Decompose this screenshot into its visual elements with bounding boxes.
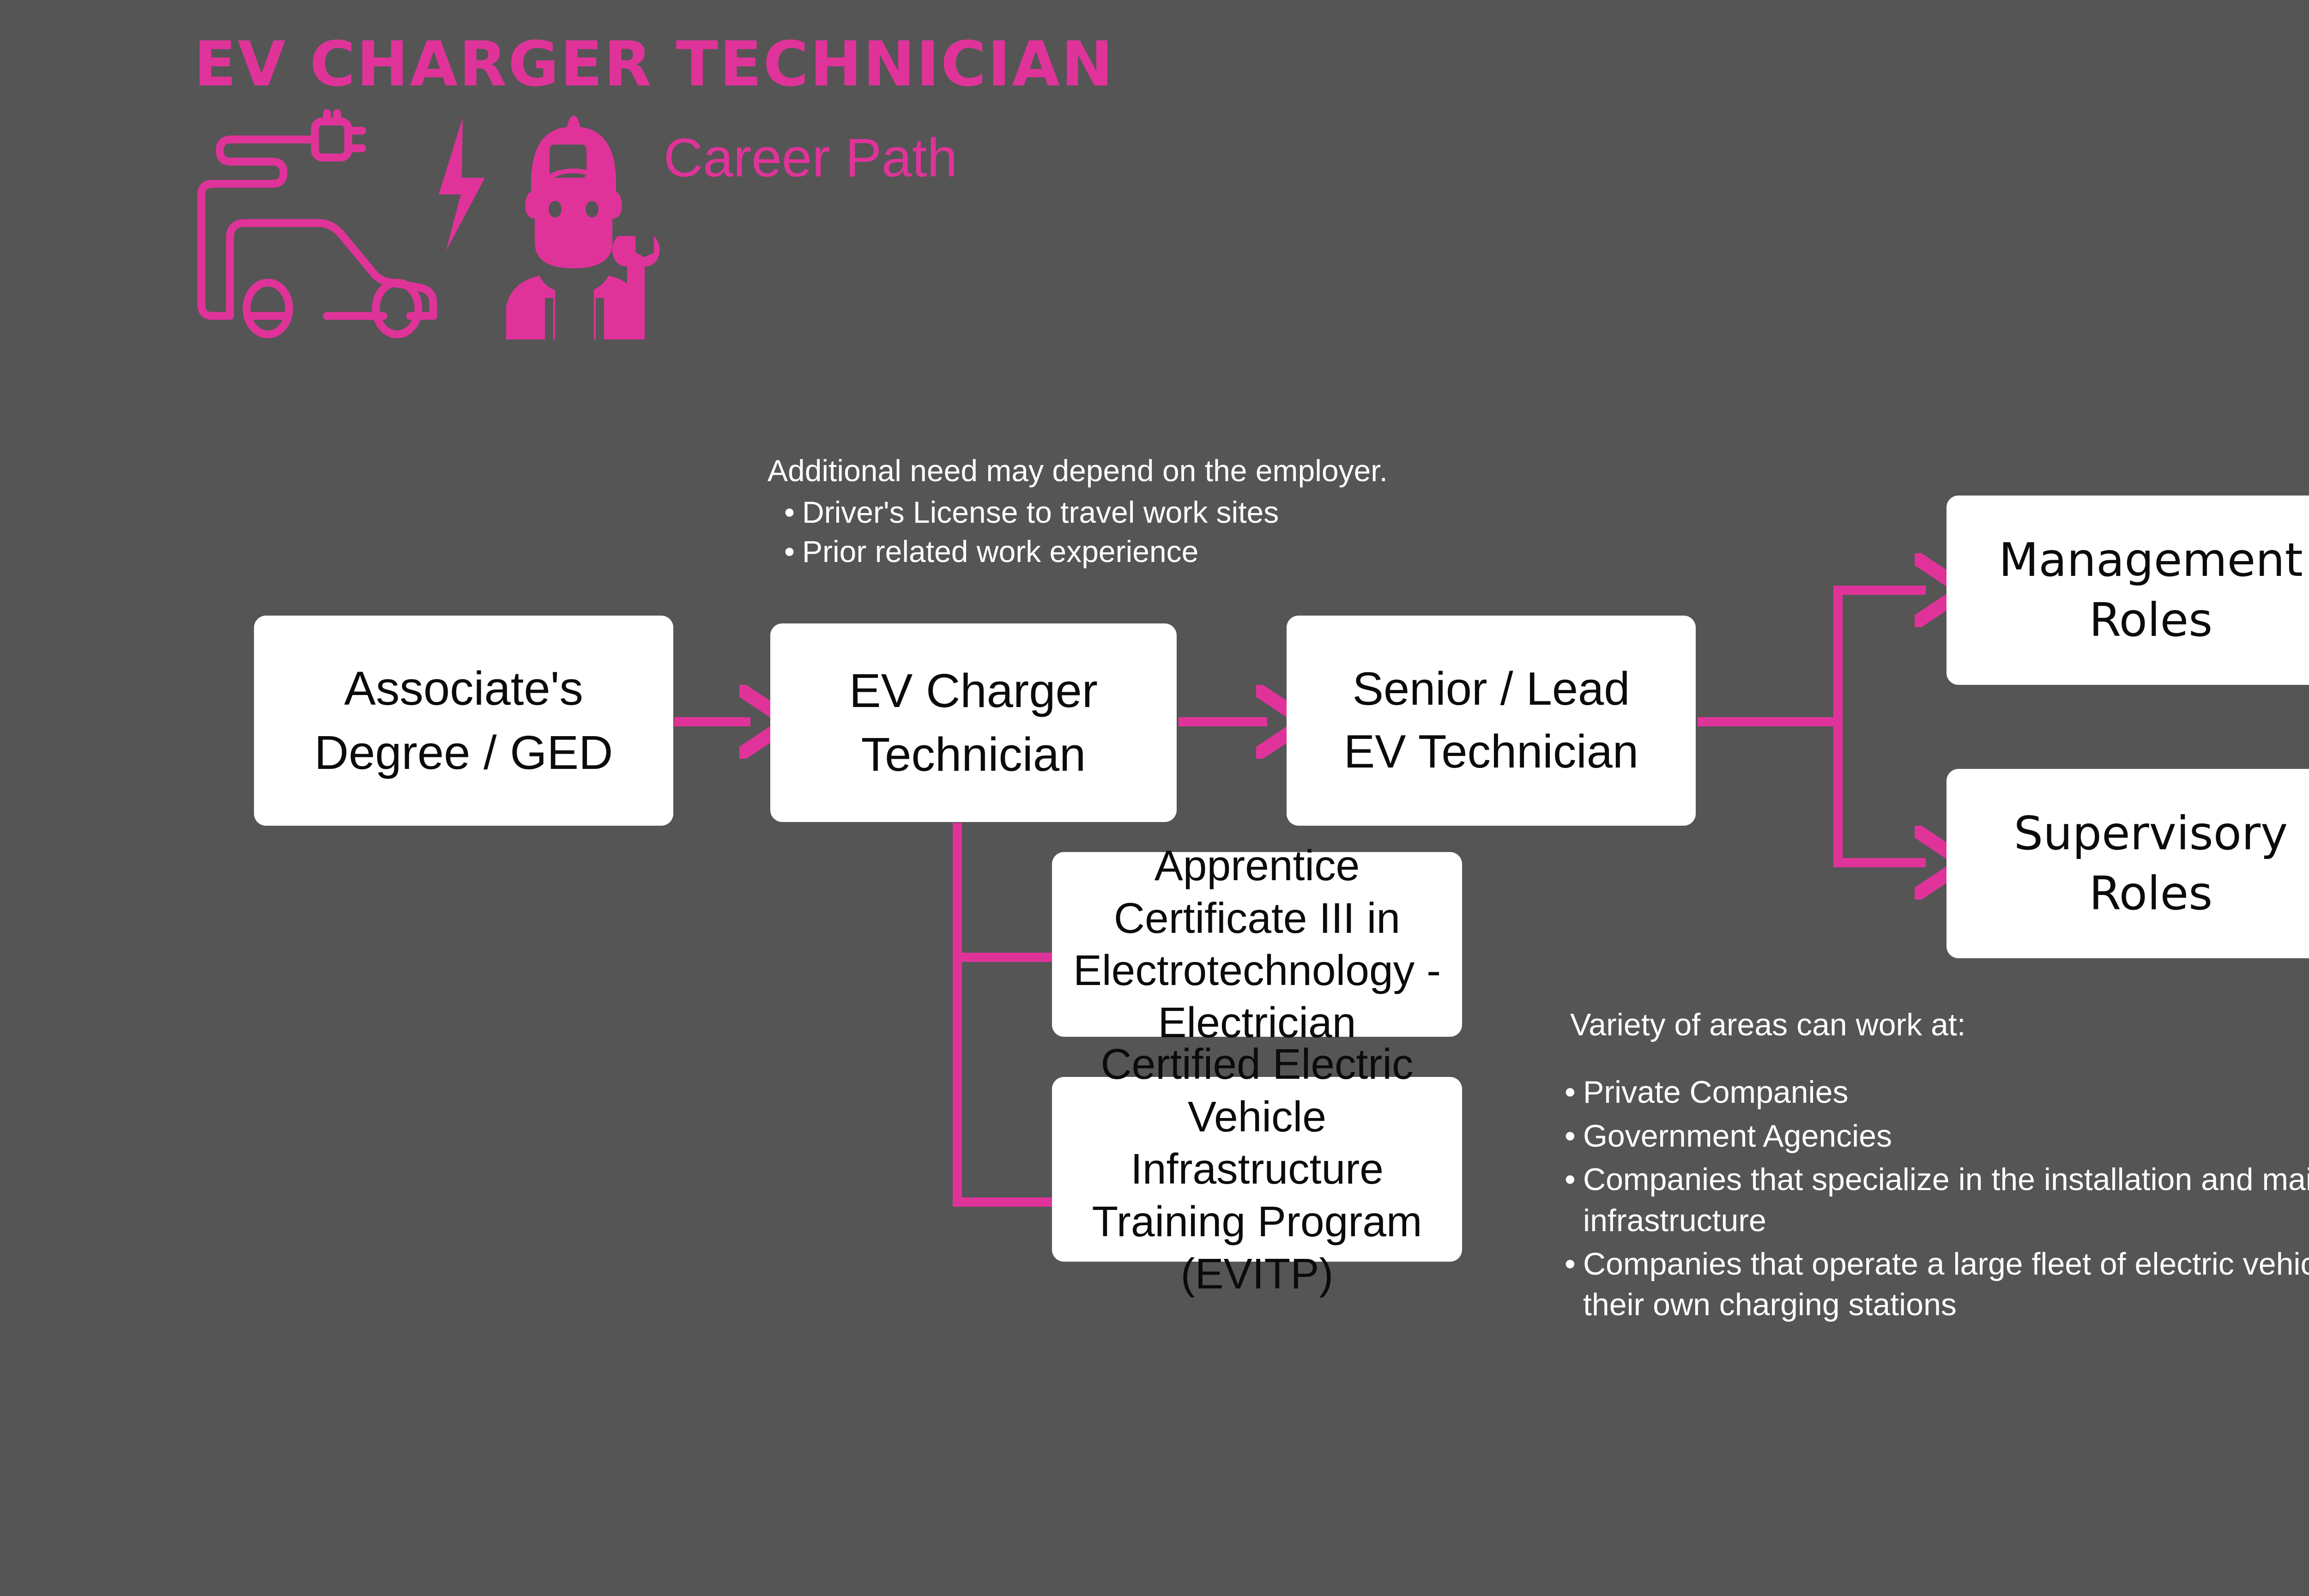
flow-box-senior-lead-ev-technician[interactable]: Senior / Lead EV Technician	[1287, 616, 1696, 826]
list-item: Government Agencies	[1561, 1116, 2309, 1156]
list-item: Prior related work experience	[768, 532, 1388, 571]
note-list: Private Companies Government Agencies Co…	[1561, 1072, 2309, 1325]
flow-box-ev-charger-technician[interactable]: EV Charger Technician	[770, 623, 1177, 822]
note-list: Driver's License to travel work sites Pr…	[768, 493, 1388, 571]
flow-box-label: Associate's Degree / GED	[314, 657, 613, 784]
flow-box-label: Management Roles	[1999, 530, 2303, 650]
connector-senior-to-supervisory	[1838, 722, 1926, 863]
note-employer-requirements: Additional need may depend on the employ…	[768, 451, 1388, 571]
flow-box-label: Certified Electric Vehicle Infrastructur…	[1063, 1038, 1451, 1300]
connector-senior-to-management	[1838, 590, 1926, 722]
list-item: Companies that operate a large fleet of …	[1561, 1244, 2309, 1325]
note-heading: Additional need may depend on the employ…	[768, 451, 1388, 490]
flow-box-associate-degree[interactable]: Associate's Degree / GED	[254, 616, 673, 826]
list-item: Companies that specialize in the install…	[1561, 1159, 2309, 1241]
flow-box-label: Apprentice Certificate III in Electrotec…	[1073, 840, 1441, 1049]
flow-box-label: Supervisory Roles	[2014, 804, 2288, 924]
page-subtitle: Career Path	[664, 131, 957, 185]
lightning-bolt-icon	[439, 118, 485, 251]
technician-with-wrench-icon	[506, 116, 659, 339]
flow-box-management-roles[interactable]: Management Roles	[1946, 496, 2309, 685]
list-item: Driver's License to travel work sites	[768, 493, 1388, 532]
flow-box-label: Senior / Lead EV Technician	[1344, 658, 1638, 783]
flow-box-apprentice-certificate[interactable]: Apprentice Certificate III in Electrotec…	[1052, 852, 1462, 1037]
flow-box-label: EV Charger Technician	[849, 659, 1098, 786]
note-heading: Variety of areas can work at:	[1561, 1004, 2309, 1045]
ev-car-charging-icon	[201, 113, 433, 334]
connector-evtech-to-certs	[957, 823, 1052, 1202]
career-path-infographic: EV CHARGER TECHNICIAN Career Path	[0, 0, 2309, 1596]
list-item: Private Companies	[1561, 1072, 2309, 1112]
flow-box-supervisory-roles[interactable]: Supervisory Roles	[1946, 769, 2309, 958]
flow-box-evitp-certification[interactable]: Certified Electric Vehicle Infrastructur…	[1052, 1077, 1462, 1262]
note-work-areas: Variety of areas can work at: Private Co…	[1561, 1004, 2309, 1328]
header-artwork	[180, 104, 670, 339]
page-title: EV CHARGER TECHNICIAN	[194, 33, 1114, 95]
